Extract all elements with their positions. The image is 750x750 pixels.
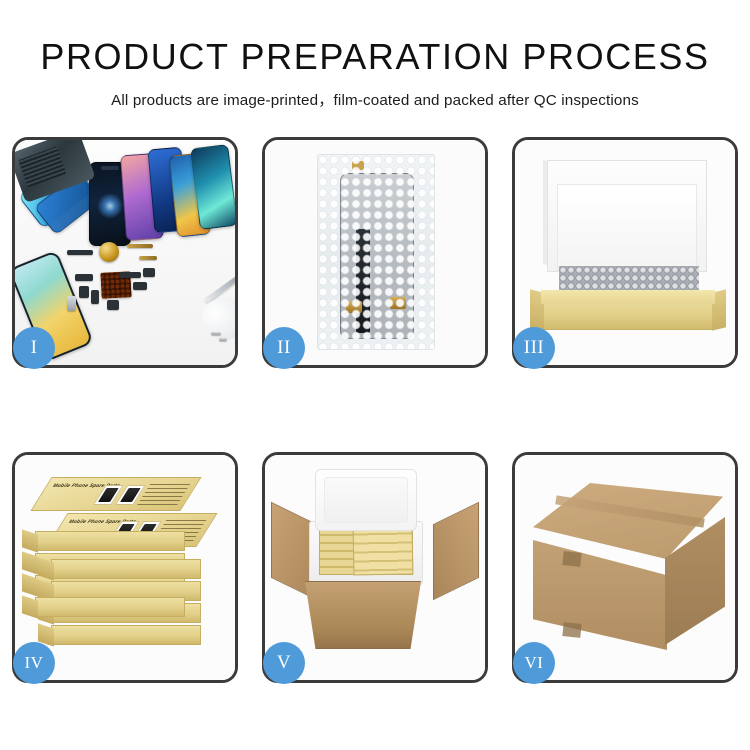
bubble-wrap-scene: [265, 140, 485, 365]
process-step-2[interactable]: II: [262, 137, 488, 368]
stacked-boxes-scene: Mobile Phone Spare Parts Mobile Phone Sp…: [15, 455, 235, 680]
process-step-5[interactable]: V: [262, 452, 488, 683]
part-strip-3: [79, 286, 89, 298]
process-step-3[interactable]: III: [512, 137, 738, 368]
step-badge-3: III: [513, 327, 555, 369]
speaker-part-icon: [99, 242, 119, 262]
carton-flap-right: [433, 502, 479, 600]
step-3-image: [515, 140, 735, 365]
step-2-image: [265, 140, 485, 365]
stacked-box-8: [35, 597, 185, 617]
bubble-wrap-bag: [317, 154, 435, 350]
step-badge-1: I: [13, 327, 55, 369]
step-4-image: Mobile Phone Spare Parts Mobile Phone Sp…: [15, 455, 235, 680]
part-strip-1: [67, 250, 93, 255]
inner-kraft-boxes-right: [353, 524, 414, 575]
phone-parts-scene: [15, 140, 235, 365]
carton-front-face: [533, 540, 667, 650]
flex-cable-1: [127, 244, 153, 248]
part-strip-8: [143, 268, 155, 277]
part-strip-4: [91, 290, 99, 304]
page-subtitle: All products are image-printed，film-coat…: [0, 88, 750, 110]
step-badge-6: VI: [513, 642, 555, 684]
flex-cable-2: [139, 256, 157, 260]
bubble-texture: [318, 155, 434, 349]
step-6-image: [515, 455, 735, 680]
step-badge-4: IV: [13, 642, 55, 684]
part-strip-6: [119, 272, 141, 278]
foam-box-lid: [315, 469, 417, 531]
page-header: PRODUCT PREPARATION PROCESS All products…: [0, 0, 750, 110]
step-badge-5: V: [263, 642, 305, 684]
part-strip-7: [133, 282, 147, 290]
process-step-6[interactable]: VI: [512, 452, 738, 683]
part-silver-1: [67, 296, 76, 311]
step-1-image: [15, 140, 235, 365]
sealed-carton-scene: [515, 455, 735, 680]
stacked-box-7: [51, 625, 201, 645]
process-step-grid: I II: [0, 137, 750, 683]
stacked-box-4: [51, 559, 201, 579]
stacked-box-lid-top: Mobile Phone Spare Parts: [30, 477, 201, 511]
step-badge-2: II: [263, 327, 305, 369]
stacked-box-1: [35, 531, 185, 551]
box-stack: Mobile Phone Spare Parts Mobile Phone Sp…: [23, 471, 233, 671]
carton-label-upper: [562, 551, 581, 567]
foam-sheet: [557, 184, 697, 272]
box-label-feature-lines: [137, 484, 191, 506]
page-title: PRODUCT PREPARATION PROCESS: [0, 38, 750, 76]
screw-2: [219, 338, 227, 341]
box-label-top: Mobile Phone Spare Parts: [40, 483, 193, 507]
carton-foam-scene: [265, 455, 485, 680]
process-step-1[interactable]: I: [12, 137, 238, 368]
carton-label-lower: [562, 622, 581, 638]
part-strip-5: [107, 300, 119, 310]
part-strip-2: [75, 274, 93, 281]
screw-1: [211, 332, 221, 335]
step-5-image: [265, 455, 485, 680]
open-box-foam-scene: [515, 140, 735, 365]
kraft-box-front-edge: [541, 290, 715, 304]
process-step-4[interactable]: Mobile Phone Spare Parts Mobile Phone Sp…: [12, 452, 238, 683]
carton-body: [297, 581, 429, 649]
